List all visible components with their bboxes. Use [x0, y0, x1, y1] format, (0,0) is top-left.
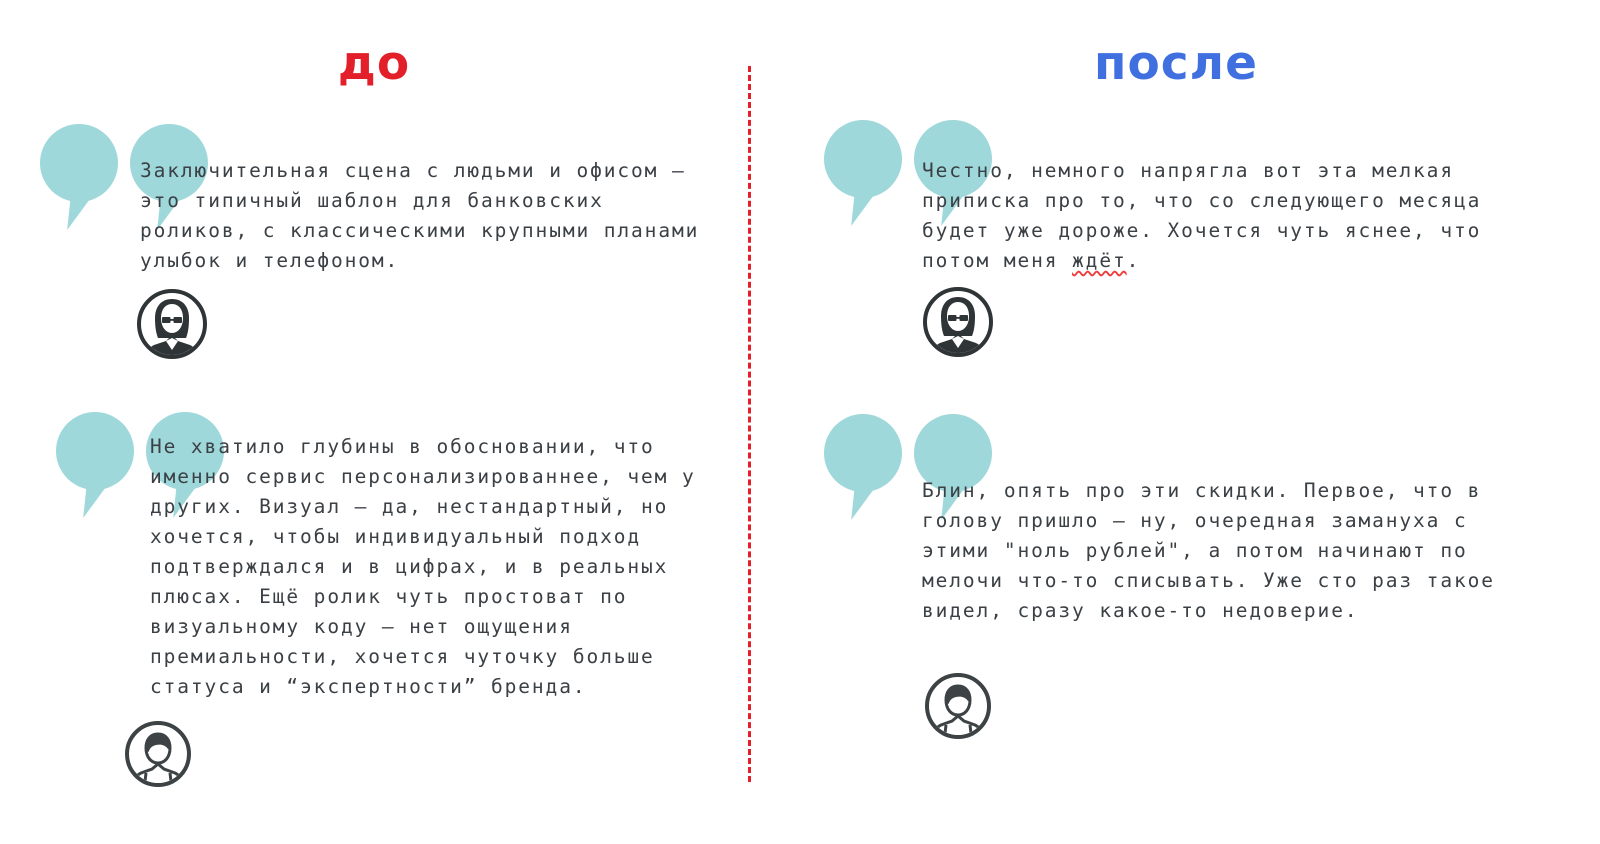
quote-text-segment: Честно, немного напрягла вот эта мелкая … — [922, 159, 1481, 272]
woman-with-glasses-avatar — [922, 286, 994, 358]
quote-text-segment: . — [1127, 249, 1141, 272]
quote-card: Блин, опять про эти скидки. Первое, что … — [824, 414, 1524, 626]
quote-text: Блин, опять про эти скидки. Первое, что … — [922, 414, 1522, 626]
quote-text: Честно, немного напрягла вот эта мелкая … — [922, 120, 1522, 276]
before-column-heading: до — [0, 36, 748, 92]
quote-text: Не хватило глубины в обосновании, что им… — [150, 412, 750, 702]
comparison-slide: до Заключительная сцена с людьми и офисо… — [0, 0, 1600, 844]
short-hair-person-avatar — [922, 670, 994, 742]
before-column: до Заключительная сцена с людьми и офисо… — [0, 0, 748, 844]
quote-card: Честно, немного напрягла вот эта мелкая … — [824, 120, 1524, 276]
quote-text: Заключительная сцена с людьми и офисом —… — [140, 124, 710, 276]
woman-with-glasses-avatar — [136, 288, 208, 360]
quote-card: Заключительная сцена с людьми и офисом —… — [40, 124, 720, 276]
after-column: после Честно, немного напрягла вот эта м… — [752, 0, 1600, 844]
short-hair-person-avatar — [122, 718, 194, 790]
spellcheck-flagged-word[interactable]: ждёт — [1072, 249, 1127, 272]
after-column-heading: после — [752, 36, 1600, 92]
quote-card: Не хватило глубины в обосновании, что им… — [56, 412, 746, 702]
